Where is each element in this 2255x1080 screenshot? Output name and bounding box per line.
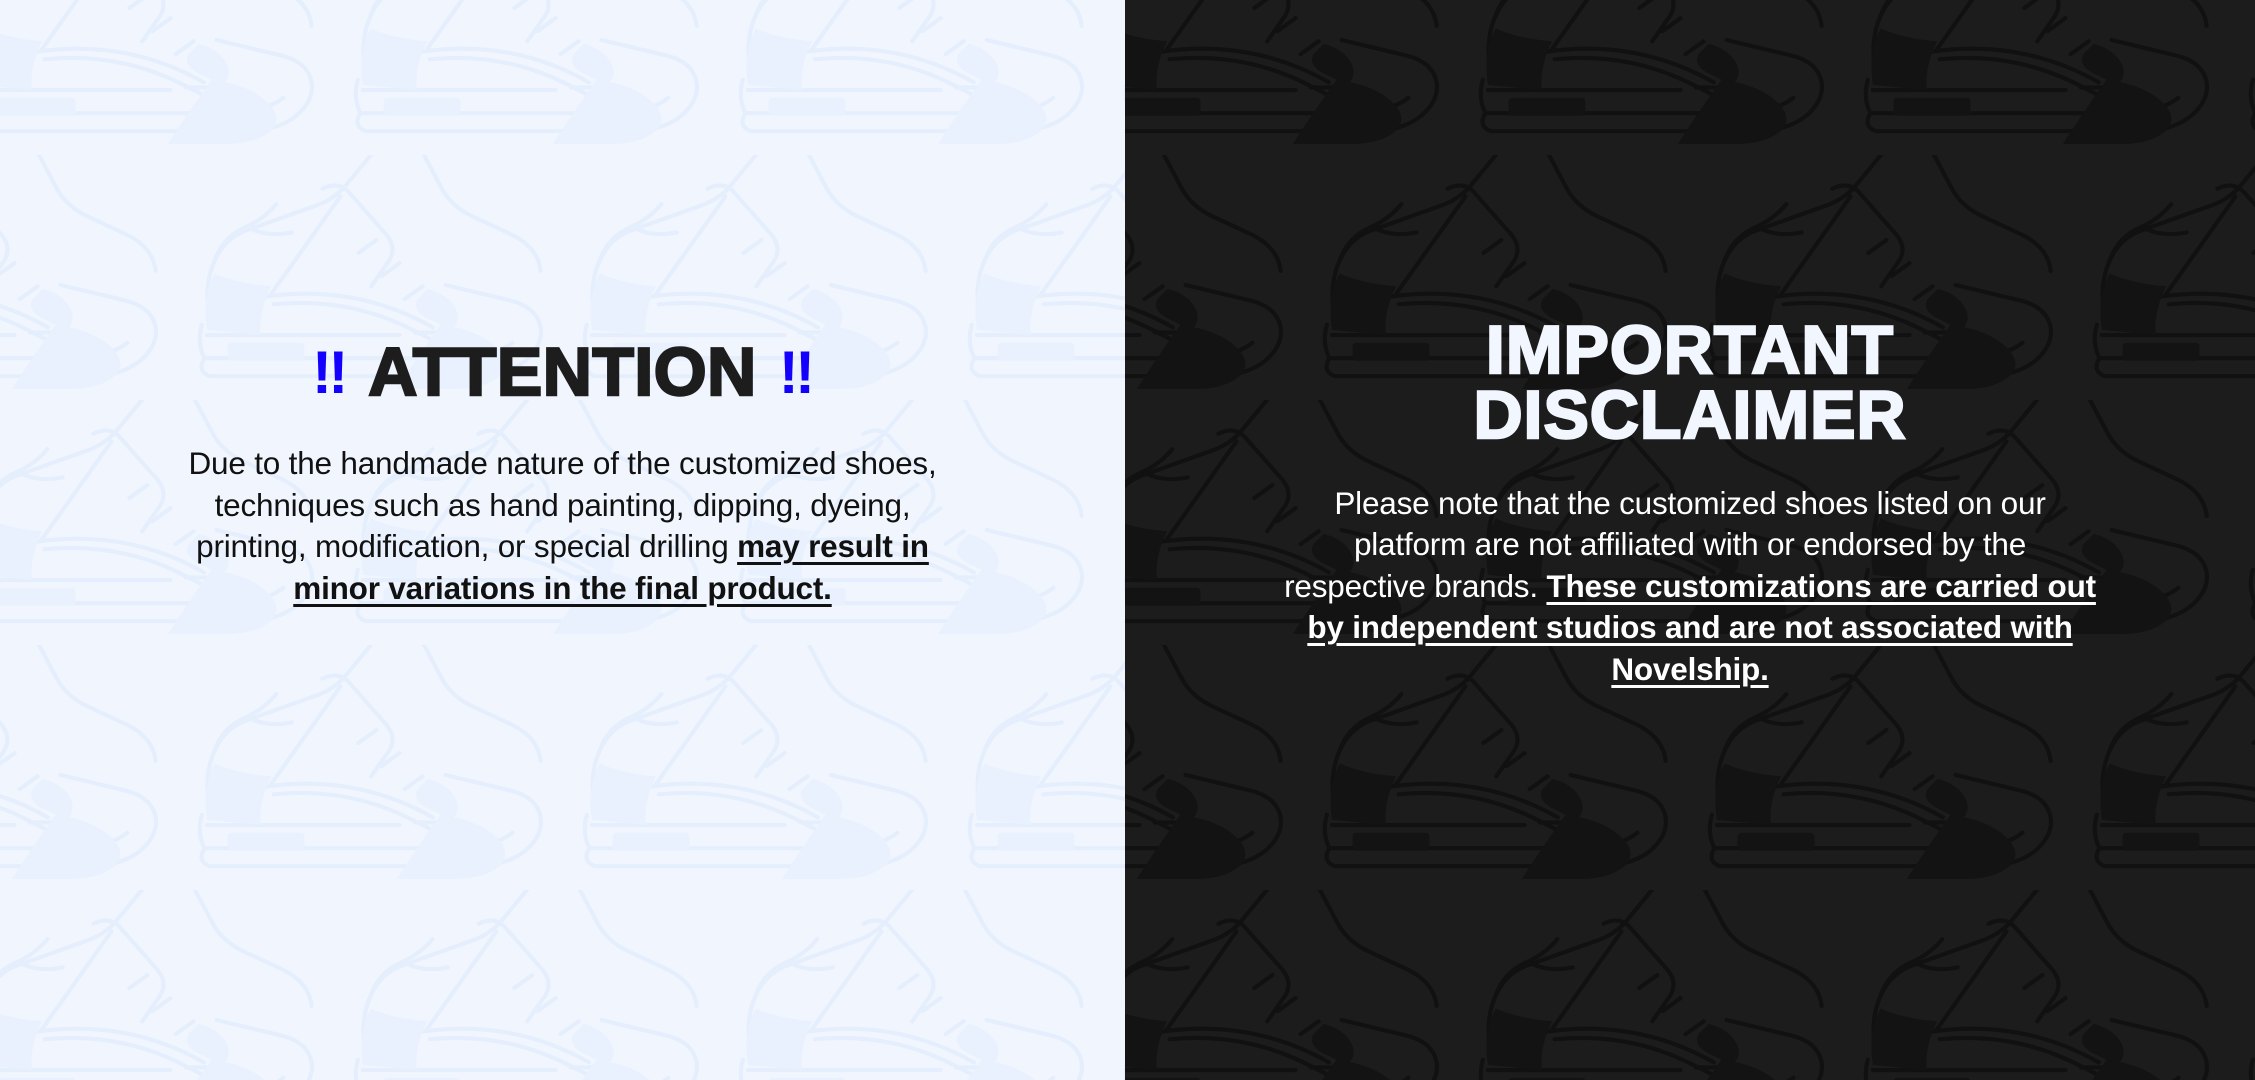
sneaker-icon bbox=[730, 890, 1115, 1080]
sneaker-icon bbox=[0, 645, 189, 905]
sneaker-icon bbox=[345, 890, 730, 1080]
attention-body: Due to the handmade nature of the custom… bbox=[163, 443, 963, 609]
attention-content: ‼ATTENTION‼ Due to the handmade nature o… bbox=[0, 0, 1125, 610]
sneaker-pattern-row bbox=[0, 870, 1125, 1080]
sneaker-icon bbox=[0, 890, 345, 1080]
disclaimer-headline-line-1: IMPORTANT bbox=[1473, 318, 1906, 383]
sneaker-icon bbox=[574, 645, 959, 905]
sneaker-icon bbox=[1115, 890, 1125, 1080]
double-exclamation-icon-left: ‼ bbox=[312, 339, 346, 406]
disclaimer-content: IMPORTANT DISCLAIMER Please note that th… bbox=[1125, 0, 2255, 690]
disclaimer-headline: IMPORTANT DISCLAIMER bbox=[1473, 318, 1906, 449]
sneaker-icon bbox=[189, 645, 574, 905]
disclaimer-panel: IMPORTANT DISCLAIMER Please note that th… bbox=[1125, 0, 2255, 1080]
sneaker-icon bbox=[959, 645, 1125, 905]
disclaimer-headline-line-2: DISCLAIMER bbox=[1473, 383, 1906, 448]
attention-disclaimer-banner: ‼ATTENTION‼ Due to the handmade nature o… bbox=[0, 0, 2255, 1080]
sneaker-pattern-row bbox=[1125, 870, 2255, 1080]
sneaker-icon bbox=[2240, 890, 2255, 1080]
attention-panel: ‼ATTENTION‼ Due to the handmade nature o… bbox=[0, 0, 1125, 1080]
sneaker-icon bbox=[1125, 890, 1470, 1080]
sneaker-icon bbox=[1855, 890, 2240, 1080]
attention-headline-text: ATTENTION bbox=[368, 334, 757, 410]
disclaimer-body: Please note that the customized shoes li… bbox=[1280, 483, 2100, 691]
double-exclamation-icon-right: ‼ bbox=[779, 339, 813, 406]
sneaker-pattern-row bbox=[0, 625, 1125, 925]
sneaker-icon bbox=[1470, 890, 1855, 1080]
attention-headline: ‼ATTENTION‼ bbox=[312, 340, 813, 405]
